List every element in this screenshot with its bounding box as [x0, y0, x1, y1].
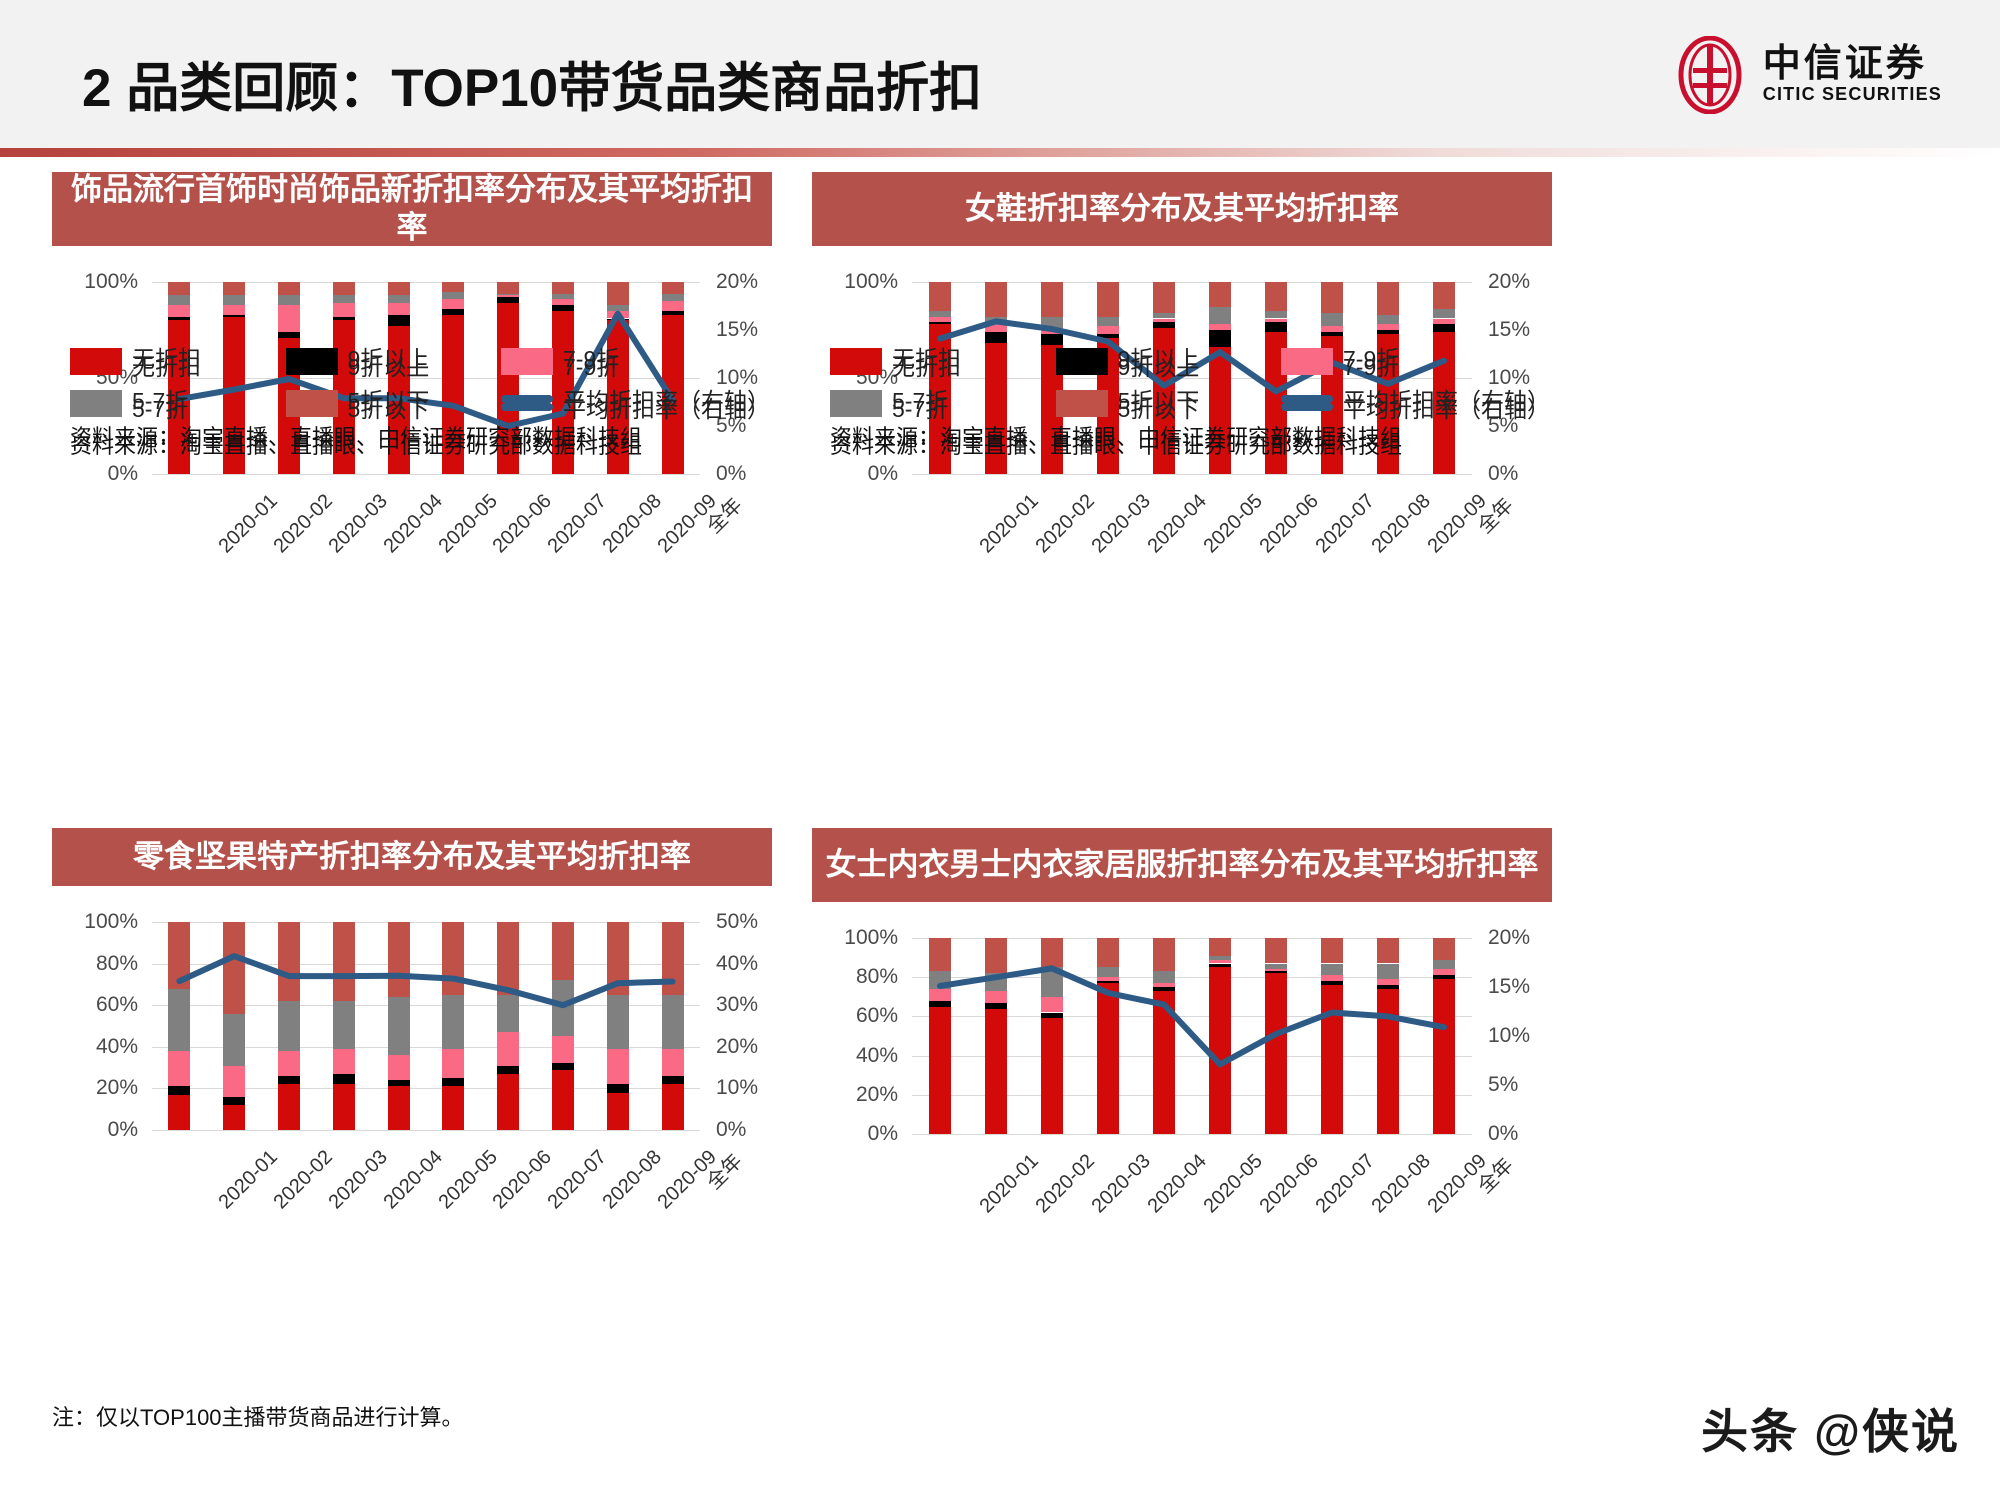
header-divider — [0, 148, 2000, 157]
bar-segment — [1377, 330, 1399, 334]
secondary-y-axis-tick-label: 0% — [1488, 1122, 1518, 1146]
bar-segment — [1321, 326, 1343, 332]
legend-item[interactable]: 平均折扣率（右轴） — [1281, 382, 1550, 416]
bar-segment — [1097, 938, 1119, 967]
chart-panel: 女士内衣男士内衣家居服折扣率分布及其平均折扣率0%20%40%60%80%100… — [812, 828, 1552, 1268]
bar-segment — [442, 309, 464, 315]
bar-segment — [278, 305, 300, 332]
citic-logo-icon — [1671, 36, 1749, 114]
bar-segment — [223, 305, 245, 315]
bar-segment — [168, 295, 190, 305]
bar-segment — [1209, 307, 1231, 324]
legend-label: 9折以上 — [348, 340, 430, 374]
bar-segment — [1209, 938, 1231, 956]
bar-segment — [1097, 977, 1119, 981]
bar-segment — [388, 315, 410, 327]
legend-swatch-icon — [830, 348, 882, 367]
bar-segment — [168, 1051, 190, 1086]
bar-segment — [607, 319, 629, 321]
stacked-bar — [1265, 938, 1287, 1134]
bar-segment — [552, 1063, 574, 1069]
legend-item[interactable]: 无折扣 — [830, 340, 1056, 374]
bar-segment — [1433, 979, 1455, 1134]
bar-segment — [1265, 311, 1287, 319]
bar-segment — [1321, 981, 1343, 985]
secondary-y-axis-tick-label: 10% — [716, 1076, 758, 1100]
secondary-y-axis-tick-label: 15% — [1488, 975, 1530, 999]
bar-segment — [168, 922, 190, 989]
x-axis-tick-label: 2020-01 — [215, 1146, 283, 1214]
bar-segment — [388, 282, 410, 295]
bar-segment — [278, 295, 300, 305]
bar-segment — [497, 1032, 519, 1065]
bar-segment — [442, 922, 464, 995]
legend-swatch-icon — [1056, 348, 1108, 367]
watermark: 头条 @侠说 — [1701, 1393, 1960, 1462]
secondary-y-axis-tick-label: 20% — [716, 270, 758, 294]
bar-segment — [1377, 282, 1399, 315]
legend-item[interactable]: 平均折扣率（右轴） — [501, 382, 770, 416]
bar-segment — [552, 922, 574, 980]
bar-segment — [607, 1093, 629, 1130]
bar-segment — [333, 282, 355, 295]
legend-item[interactable]: 7-9折 — [501, 340, 770, 374]
bar-segment — [1377, 964, 1399, 980]
bar-segment — [929, 989, 951, 1001]
y-axis-tick-label: 40% — [52, 1035, 138, 1059]
bar-segment — [1153, 971, 1175, 983]
bar-segment — [1265, 319, 1287, 323]
bar-segment — [607, 995, 629, 1049]
bar-segment — [1153, 938, 1175, 971]
bar-segment — [1433, 309, 1455, 319]
secondary-y-axis-tick-label: 0% — [716, 1118, 746, 1142]
x-axis-tick-label: 2020-07 — [544, 490, 612, 558]
bar-segment — [1097, 334, 1119, 338]
bar-segment — [662, 282, 684, 294]
bar-segment — [607, 922, 629, 995]
bar-segment — [985, 1009, 1007, 1134]
chart-title: 零食坚果特产折扣率分布及其平均折扣率 — [52, 828, 772, 886]
legend-line-icon — [501, 395, 553, 403]
bar-segment — [442, 299, 464, 309]
bar-segment — [497, 922, 519, 995]
legend-label: 无折扣 — [132, 340, 201, 374]
bar-segment — [168, 1086, 190, 1094]
legend-label: 平均折扣率（右轴） — [563, 382, 770, 416]
bar-segment — [442, 282, 464, 292]
bar-segment — [607, 1049, 629, 1084]
bar-segment — [985, 973, 1007, 991]
bar-segment — [1097, 981, 1119, 983]
bar-segment — [607, 305, 629, 311]
secondary-y-axis-tick-label: 20% — [1488, 270, 1530, 294]
legend-item[interactable]: 5折以下 — [1056, 382, 1282, 416]
bar-segment — [388, 922, 410, 997]
bar-segment — [1433, 969, 1455, 975]
bar-segment — [1265, 973, 1287, 1134]
chart-panel: 零食坚果特产折扣率分布及其平均折扣率0%20%40%60%80%100%0%10… — [52, 828, 772, 1264]
secondary-y-axis-tick-label: 20% — [1488, 926, 1530, 950]
bar-segment — [1377, 324, 1399, 330]
bar-segment — [497, 295, 519, 297]
bar-segment — [1265, 322, 1287, 332]
bar-segment — [985, 991, 1007, 1003]
source-note: 资料来源：淘宝直播、直播眼、中信证券研究部数据科技组 — [70, 420, 642, 452]
stacked-bar — [223, 922, 245, 1130]
bar-segment — [168, 282, 190, 295]
bar-segment — [497, 294, 519, 296]
x-axis-tick-label: 2020-06 — [1256, 490, 1324, 558]
x-axis-tick-label: 2020-05 — [434, 1146, 502, 1214]
bar-segment — [223, 1066, 245, 1097]
gridline — [152, 474, 700, 475]
bar-segment — [1097, 983, 1119, 1134]
bar-segment — [1321, 282, 1343, 313]
legend-item[interactable]: 5-7折 — [830, 382, 1056, 416]
bar-segment — [1153, 313, 1175, 319]
bar-segment — [552, 1036, 574, 1063]
stacked-bar — [1153, 938, 1175, 1134]
bar-segment — [607, 311, 629, 319]
legend-item[interactable]: 5-7折 — [70, 382, 286, 416]
bar-segment — [333, 1084, 355, 1130]
legend-label: 无折扣 — [892, 340, 961, 374]
legend-swatch-icon — [501, 348, 553, 367]
bar-segment — [662, 1076, 684, 1084]
bar-segment — [388, 1086, 410, 1130]
bar-segment — [1321, 938, 1343, 963]
bar-segment — [1209, 324, 1231, 330]
bar-segment — [662, 294, 684, 302]
x-axis-tick-label: 2020-06 — [489, 1146, 557, 1214]
x-axis-tick-label: 2020-07 — [544, 1146, 612, 1214]
page-title: 2 品类回顾：TOP10带货品类商品折扣 — [82, 46, 982, 122]
stacked-bar — [168, 922, 190, 1130]
brand-logo: 中信证券 CITIC SECURITIES — [1671, 36, 1942, 114]
stacked-bar — [1377, 938, 1399, 1134]
stacked-bar — [929, 938, 951, 1134]
stacked-bar — [442, 922, 464, 1130]
bar-segment — [168, 1095, 190, 1130]
secondary-y-axis-tick-label: 5% — [1488, 1073, 1518, 1097]
x-axis-tick-label: 2020-03 — [1088, 1150, 1156, 1218]
y-axis-tick-label: 40% — [812, 1044, 898, 1068]
logo-text-en: CITIC SECURITIES — [1763, 84, 1942, 105]
bar-segment — [388, 295, 410, 303]
bar-segment — [388, 1080, 410, 1086]
bar-segment — [1433, 938, 1455, 960]
x-axis-tick-label: 2020-05 — [1200, 1150, 1268, 1218]
bar-segment — [929, 938, 951, 971]
x-axis-tick-label: 2020-02 — [1032, 490, 1100, 558]
bar-segment — [442, 1049, 464, 1078]
bar-segment — [1321, 975, 1343, 981]
chart-legend: 无折扣9折以上7-9折5-7折5折以下平均折扣率（右轴） — [830, 340, 1550, 416]
legend-swatch-icon — [70, 348, 122, 367]
bar-segment — [278, 1001, 300, 1051]
bar-segment — [442, 292, 464, 300]
bar-segment — [1265, 971, 1287, 973]
bar-segment — [1433, 960, 1455, 970]
bar-segment — [223, 1105, 245, 1130]
bar-segment — [497, 282, 519, 294]
legend-swatch-icon — [286, 390, 338, 409]
legend-label: 9折以上 — [1118, 340, 1200, 374]
bar-segment — [223, 295, 245, 305]
legend-item[interactable]: 无折扣 — [70, 340, 286, 374]
bar-segment — [223, 315, 245, 317]
legend-item[interactable]: 9折以上 — [1056, 340, 1282, 374]
legend-label: 5折以下 — [1118, 382, 1200, 416]
bar-segment — [1041, 1018, 1063, 1134]
y-axis-tick-label: 100% — [52, 270, 138, 294]
bar-segment — [552, 305, 574, 311]
bar-segment — [223, 922, 245, 1014]
bar-segment — [1209, 964, 1231, 968]
x-axis-tick-label: 2020-07 — [1312, 490, 1380, 558]
x-axis-tick-label: 2020-03 — [325, 490, 393, 558]
plot-area: 0%20%40%60%80%100%0%10%20%30%40%50%2020-… — [52, 886, 772, 1264]
bar-segment — [985, 324, 1007, 332]
y-axis-tick-label: 60% — [812, 1004, 898, 1028]
bar-segment — [1377, 985, 1399, 989]
legend-label: 平均折扣率（右轴） — [1343, 382, 1550, 416]
bar-segment — [662, 995, 684, 1049]
bar-segment — [1153, 991, 1175, 1134]
bar-segment — [278, 332, 300, 338]
bar-segment — [1321, 332, 1343, 336]
bar-segment — [278, 1084, 300, 1130]
bar-segment — [333, 1001, 355, 1049]
bar-segment — [662, 1049, 684, 1076]
x-axis-tick-label: 2020-08 — [599, 1146, 667, 1214]
bar-segment — [1041, 282, 1063, 317]
legend-label: 7-9折 — [1343, 340, 1399, 374]
x-axis-tick-label: 2020-02 — [1032, 1150, 1100, 1218]
bar-segment — [1097, 317, 1119, 327]
bar-segment — [985, 938, 1007, 973]
legend-line-icon — [1281, 395, 1333, 403]
bar-segment — [985, 282, 1007, 317]
bar-segment — [1041, 938, 1063, 967]
stacked-bar — [662, 922, 684, 1130]
bar-segment — [333, 1074, 355, 1084]
bar-segment — [333, 1049, 355, 1074]
chart-title: 女鞋折扣率分布及其平均折扣率 — [812, 172, 1552, 246]
gridline — [912, 1134, 1472, 1135]
bar-segment — [223, 1097, 245, 1105]
legend-swatch-icon — [286, 348, 338, 367]
stacked-bar — [607, 922, 629, 1130]
stacked-bar — [1321, 938, 1343, 1134]
source-note: 资料来源：淘宝直播、直播眼、中信证券研究部数据科技组 — [830, 420, 1402, 452]
bar-segment — [1097, 326, 1119, 334]
bar-segment — [929, 317, 951, 323]
x-axis-tick-label: 2020-03 — [325, 1146, 393, 1214]
secondary-y-axis-tick-label: 30% — [716, 993, 758, 1017]
bar-segment — [1433, 319, 1455, 325]
secondary-y-axis-tick-label: 0% — [1488, 462, 1518, 486]
x-axis-tick-label: 2020-01 — [976, 1150, 1044, 1218]
bar-segment — [662, 922, 684, 995]
bar-segment — [1153, 322, 1175, 328]
bar-segment — [1433, 324, 1455, 332]
x-axis-tick-label: 2020-03 — [1088, 490, 1156, 558]
plot-area: 0%20%40%60%80%100%0%5%10%15%20%2020-0120… — [812, 902, 1552, 1268]
bar-segment — [1041, 1013, 1063, 1019]
bar-segment — [497, 995, 519, 1032]
x-axis-tick-label: 2020-02 — [270, 490, 338, 558]
bar-segment — [1265, 938, 1287, 963]
bar-segment — [1041, 997, 1063, 1013]
page-header: 2 品类回顾：TOP10带货品类商品折扣 中信证券 CITIC SECURITI… — [0, 0, 2000, 148]
legend-label: 5-7折 — [892, 382, 948, 416]
stacked-bar — [1209, 938, 1231, 1134]
x-axis-tick-label: 2020-04 — [1144, 1150, 1212, 1218]
y-axis-tick-label: 0% — [812, 1122, 898, 1146]
bar-segment — [1041, 328, 1063, 334]
bar-segment — [497, 1074, 519, 1130]
bar-segment — [333, 922, 355, 1001]
bar-segment — [278, 922, 300, 1001]
bar-segment — [662, 311, 684, 315]
bar-segment — [442, 1078, 464, 1086]
x-axis-tick-label: 2020-05 — [434, 490, 502, 558]
y-axis-tick-label: 60% — [52, 993, 138, 1017]
bar-segment — [929, 971, 951, 989]
bar-segment — [552, 294, 574, 300]
x-axis-tick-label: 2020-02 — [270, 1146, 338, 1214]
bar-segment — [552, 1070, 574, 1130]
secondary-y-axis-tick-label: 0% — [716, 462, 746, 486]
secondary-y-axis-tick-label: 10% — [1488, 1024, 1530, 1048]
legend-item[interactable]: 5折以下 — [286, 382, 502, 416]
bar-segment — [442, 995, 464, 1049]
legend-item[interactable]: 7-9折 — [1281, 340, 1550, 374]
stacked-bar — [497, 922, 519, 1130]
gridline — [152, 1130, 700, 1131]
bar-segment — [1377, 989, 1399, 1134]
legend-label: 5-7折 — [132, 382, 188, 416]
y-axis-tick-label: 100% — [812, 926, 898, 950]
bar-segment — [278, 282, 300, 295]
y-axis-tick-label: 20% — [812, 1083, 898, 1107]
bar-segment — [497, 297, 519, 303]
bar-segment — [1265, 969, 1287, 971]
x-axis-tick-label: 2020-08 — [1368, 1150, 1436, 1218]
bar-segment — [1209, 967, 1231, 1134]
bar-segment — [1153, 319, 1175, 323]
bar-segment — [168, 989, 190, 1051]
bar-segment — [929, 1007, 951, 1134]
gridline — [912, 474, 1472, 475]
bar-segment — [278, 1051, 300, 1076]
bar-segment — [497, 1066, 519, 1074]
bar-segment — [1265, 282, 1287, 311]
bar-segment — [168, 317, 190, 321]
bar-segment — [929, 1001, 951, 1007]
bar-segment — [1377, 979, 1399, 985]
bar-segment — [552, 299, 574, 305]
bar-segment — [333, 295, 355, 303]
bar-segment — [1041, 317, 1063, 329]
chart-title: 女士内衣男士内衣家居服折扣率分布及其平均折扣率 — [812, 828, 1552, 902]
bar-segment — [223, 1014, 245, 1066]
y-axis-tick-label: 0% — [52, 1118, 138, 1142]
bar-segment — [1097, 967, 1119, 977]
x-axis-tick-label: 2020-06 — [1256, 1150, 1324, 1218]
x-axis-tick-label: 2020-08 — [1368, 490, 1436, 558]
legend-label: 7-9折 — [563, 340, 619, 374]
legend-swatch-icon — [1281, 348, 1333, 367]
x-axis-tick-label: 2020-08 — [599, 490, 667, 558]
stacked-bar — [1433, 938, 1455, 1134]
chart-legend: 无折扣9折以上7-9折5-7折5折以下平均折扣率（右轴） — [70, 340, 770, 416]
bar-segment — [1041, 967, 1063, 996]
legend-swatch-icon — [70, 390, 122, 409]
y-axis-tick-label: 80% — [52, 952, 138, 976]
bar-segment — [662, 1084, 684, 1130]
y-axis-tick-label: 20% — [52, 1076, 138, 1100]
secondary-y-axis-tick-label: 15% — [1488, 318, 1530, 342]
stacked-bar — [552, 922, 574, 1130]
bar-segment — [1321, 985, 1343, 1134]
secondary-y-axis-tick-label: 15% — [716, 318, 758, 342]
bar-segment — [607, 282, 629, 305]
x-axis-tick-label: 2020-06 — [489, 490, 557, 558]
bar-segment — [607, 1084, 629, 1092]
secondary-y-axis-tick-label: 40% — [716, 952, 758, 976]
bar-segment — [168, 305, 190, 317]
bar-segment — [388, 1055, 410, 1080]
stacked-bar — [278, 922, 300, 1130]
legend-swatch-icon — [1056, 390, 1108, 409]
x-axis-tick-label: 2020-04 — [379, 1146, 447, 1214]
y-axis-tick-label: 100% — [52, 910, 138, 934]
stacked-bar — [333, 922, 355, 1130]
x-axis-tick-label: 2020-05 — [1200, 490, 1268, 558]
legend-item[interactable]: 9折以上 — [286, 340, 502, 374]
bar-segment — [552, 282, 574, 294]
bar-segment — [929, 282, 951, 311]
bar-segment — [552, 980, 574, 1036]
x-axis-tick-label: 2020-07 — [1312, 1150, 1380, 1218]
footnote: 注：仅以TOP100主播带货商品进行计算。 — [52, 1400, 464, 1432]
bar-segment — [388, 303, 410, 315]
secondary-y-axis-tick-label: 50% — [716, 910, 758, 934]
bar-segment — [333, 317, 355, 321]
bar-segment — [388, 997, 410, 1055]
stacked-bar — [1041, 938, 1063, 1134]
bar-segment — [662, 301, 684, 311]
bar-segment — [985, 1003, 1007, 1009]
y-axis-tick-label: 80% — [812, 965, 898, 989]
bar-segment — [1209, 956, 1231, 960]
bar-segment — [1433, 975, 1455, 979]
chart-title: 饰品流行首饰时尚饰品新折扣率分布及其平均折扣率 — [52, 172, 772, 246]
bar-segment — [1377, 315, 1399, 325]
x-axis-tick-label: 2020-04 — [1144, 490, 1212, 558]
bar-segment — [1209, 960, 1231, 964]
logo-text-cn: 中信证券 — [1763, 45, 1942, 85]
x-axis-tick-label: 2020-01 — [976, 490, 1044, 558]
bar-segment — [1433, 282, 1455, 309]
bar-segment — [442, 1086, 464, 1130]
bar-segment — [1209, 282, 1231, 307]
y-axis-tick-label: 0% — [52, 462, 138, 486]
bar-segment — [1097, 282, 1119, 317]
